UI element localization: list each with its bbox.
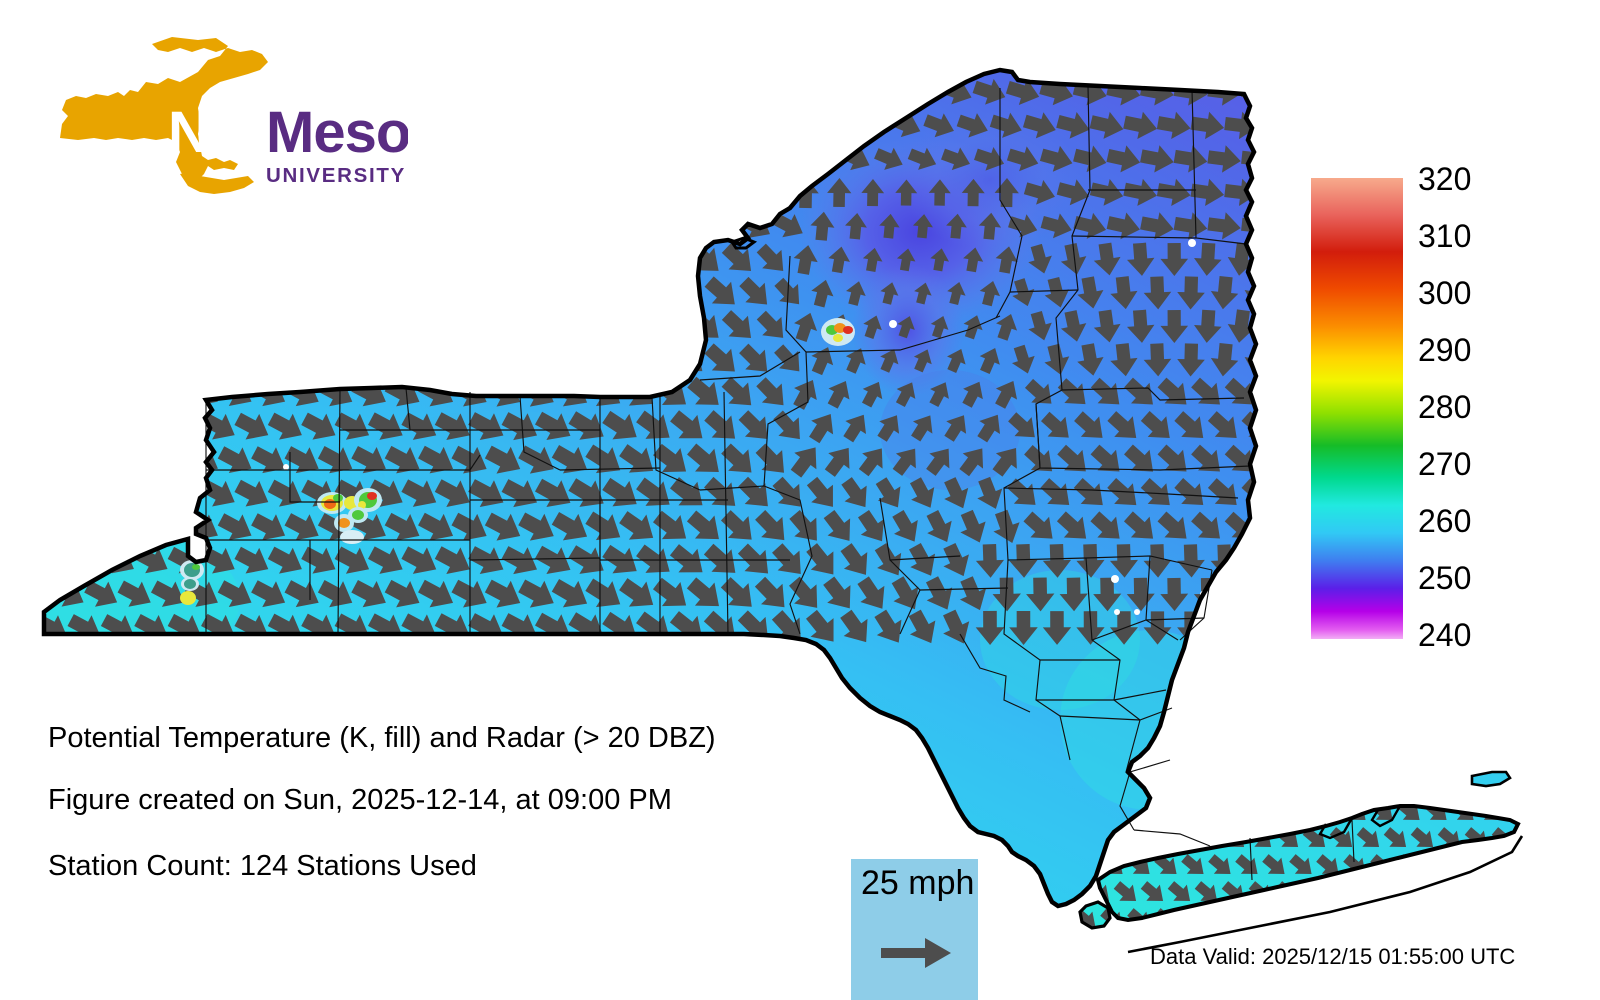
wind-barb [131,406,174,447]
wind-barb [198,204,242,249]
wind-barb [1475,850,1508,882]
wind-barb-field-long-island [1070,796,1535,936]
wind-barb [648,237,695,283]
wind-barb [64,273,107,314]
wind-barb [281,305,326,347]
wind-barb [264,203,309,249]
wind-barb [869,73,909,111]
wind-barb [147,239,191,280]
wind-barb [47,239,90,280]
wind-barb [381,305,426,348]
wind-barb [448,238,494,282]
wind-barb [97,474,140,515]
wind-barb [298,272,343,314]
wind-barb [464,69,511,116]
wind-barb [231,203,275,248]
wind-barb [181,239,225,281]
wind-barb [564,69,612,116]
wind-barb [564,136,612,183]
wind-barb [531,136,579,183]
wind-barb [1151,796,1184,828]
wind-barb [314,103,359,149]
wind-barb [398,338,444,381]
wind-barb [431,338,477,381]
wind-barb [114,440,157,481]
wind-barb [331,272,376,315]
wind-barb [481,169,528,216]
colorbar-tick-240: 240 [1418,619,1471,651]
wind-barb [147,373,191,414]
wind-barb [297,69,342,115]
wind-barb [131,272,174,313]
wind-barb [481,238,527,282]
wind-barb [531,203,579,250]
data-valid-timestamp: Data Valid: 2025/12/15 01:55:00 UTC [1150,945,1515,969]
weather-map-figure: NYS Mesonet UNIVERSITY AT ALBANY [0,0,1600,1000]
wind-barb [131,137,173,181]
wind-barb [615,304,662,350]
wind-barb [314,305,359,348]
wind-barb [1421,904,1454,936]
wind-barb [1178,796,1211,828]
wind-barb [32,71,72,114]
wind-barb [98,204,140,248]
wind-barb [1448,904,1481,936]
wind-barb [164,70,207,114]
wind-barb [497,136,544,183]
wind-scale-label: 25 mph [861,866,974,900]
wind-barb [1421,850,1454,882]
wind-barb [164,204,207,248]
wind-barb [733,71,778,114]
wind-barb [231,69,275,114]
wind-barb [31,407,74,447]
wind-barb [47,373,90,414]
wind-barb [1488,877,1521,909]
wind-barb [1232,796,1265,828]
wind-barb [248,305,292,347]
wind-barb [1407,877,1440,909]
wind-barb [431,69,478,116]
wind-barb [148,170,191,214]
wind-barb [431,203,478,250]
colorbar-tick-280: 280 [1418,391,1471,423]
wind-barb [531,271,578,316]
wind-barb [297,203,342,249]
wind-barb [231,136,275,181]
wind-barb [615,103,662,149]
wind-barb [214,239,258,281]
figure-title: Potential Temperature (K, fill) and Rada… [48,723,716,753]
wind-barb [514,237,561,281]
wind-barb [164,137,207,181]
station-count-label: Station Count: 124 Stations Used [48,851,477,881]
wind-barb [64,340,107,381]
wind-barb [768,139,810,179]
wind-barb [115,171,157,215]
wind-barb [397,69,443,115]
wind-barb [548,304,595,349]
wind-barb [114,373,157,414]
wind-barb [281,103,326,149]
colorbar-tick-290: 290 [1418,334,1471,366]
wind-barb [381,102,427,148]
wind-barb [97,340,140,381]
wind-barb [514,169,562,216]
wind-barb [364,203,410,249]
wind-barb [281,170,326,216]
wind-barb [581,304,628,350]
wind-barb [632,270,679,316]
wind-barb [114,306,157,347]
wind-barb [431,271,477,314]
wind-barb [699,137,744,180]
wind-barb [514,304,561,348]
wind-barb [414,305,460,348]
wind-barb [381,169,427,215]
wind-barb [447,102,494,149]
wind-barb [564,203,612,250]
wind-barb-field [31,69,1280,652]
wind-barb [97,273,140,314]
wind-barb [598,337,645,383]
wind-barb [1244,612,1272,645]
wind-barb [214,103,258,148]
wind-barb [1502,904,1535,936]
wind-barb [231,339,275,381]
wind-barb [598,270,645,316]
wind-barb [314,170,359,216]
wind-barb [64,474,107,515]
wind-barb [348,305,393,348]
wind-barb [598,69,646,115]
wind-barb [481,305,527,349]
colorbar [1311,178,1403,639]
wind-barb [164,272,208,313]
wind-barb [147,306,191,347]
wind-barb [131,339,174,380]
wind-barb [264,69,309,115]
wind-barb [197,272,241,314]
wind-barb [364,69,410,115]
wind-barb [448,305,494,349]
wind-barb [767,71,811,113]
wind-barb [564,270,611,315]
wind-barb [198,70,242,115]
wind-barb [331,69,377,115]
wind-barb [819,106,860,144]
wind-barb [65,70,106,113]
wind-barb [835,73,876,112]
wind-barb [498,271,544,315]
wind-barb [181,306,225,348]
wind-barb [547,169,595,216]
wind-barb [1211,612,1239,645]
wind-barb [47,440,90,481]
wind-barb [348,238,393,281]
wind-barb [547,102,595,149]
wind-barb [615,170,662,216]
wind-barb [1475,904,1508,936]
wind-barb [631,69,678,115]
wind-barb [114,507,157,548]
wind-barb [631,337,678,383]
wind-barb [164,406,208,447]
wind-barb [581,102,629,148]
wind-barb [414,169,461,216]
wind-barb [665,204,711,248]
wind-barb [648,304,695,350]
wind-barb [181,103,224,148]
wind-barb [431,136,478,183]
wind-barb [31,541,74,581]
wind-barb [1244,544,1273,578]
wind-barb [48,171,89,214]
wind-barb [82,104,123,147]
wind-barb [514,102,562,149]
wind-barb [1227,578,1255,611]
wind-barb [497,69,544,116]
wind-barb [81,440,124,481]
wind-barb [785,106,827,146]
colorbar-tick-250: 250 [1418,562,1471,594]
wind-barb [47,306,90,347]
wind-barb [98,70,140,114]
wind-barb [665,70,712,115]
wind-barb [281,238,326,280]
colorbar-tick-260: 260 [1418,505,1471,537]
figure-created-timestamp: Figure created on Sun, 2025-12-14, at 09… [48,785,672,815]
wind-barb [81,373,124,414]
wind-barb [164,339,208,380]
wind-barb [1461,877,1494,909]
wind-barb [331,136,377,182]
wind-barb [297,136,342,182]
wind-barb [198,137,242,182]
wind-barb [1259,796,1292,828]
wind-barb [751,172,793,212]
wind-barb [248,103,292,148]
wind-barb [31,474,74,514]
wind-barb [682,171,728,215]
wind-barb [248,238,292,280]
wind-barb [231,272,275,314]
wind-barb [734,138,778,180]
wind-barb [115,104,157,148]
wind-barb [114,239,157,280]
wind-barb [1367,904,1400,936]
wind-barb [1286,796,1319,828]
wind-barb [631,136,678,181]
wind-barb [214,306,258,348]
wind-barb [481,102,528,149]
wind-barb [65,137,106,180]
colorbar-gradient [1311,178,1403,639]
wind-barb [397,136,443,182]
wind-barb [398,271,444,314]
wind-barb [648,170,695,215]
wind-barb [298,339,343,381]
wind-barb [598,203,645,249]
wind-barb [598,136,646,182]
wind-barb [1394,904,1427,936]
wind-barb [48,104,89,147]
wind-barb [264,136,309,182]
wind-scale-legend: 25 mph [851,859,978,1000]
wind-barb [381,238,426,281]
wind-barb [665,137,711,182]
wind-barb [131,204,173,248]
wind-barb [65,204,106,247]
wind-barb [331,339,376,382]
wind-barb [464,271,510,315]
wind-barb [414,102,461,149]
wind-barb [214,170,258,215]
wind-barb [548,237,595,282]
wind-barb [364,339,409,382]
wind-barb [750,105,794,147]
wind-barb [264,339,309,381]
wind-barb [364,136,410,182]
wind-barb [1326,877,1359,909]
wind-barb [414,238,460,281]
wind-barb [81,306,124,347]
wind-barb [716,104,761,147]
wind-barb [148,103,191,147]
colorbar-tick-320: 320 [1418,163,1471,195]
colorbar-tick-270: 270 [1418,448,1471,480]
wind-barb [197,339,241,381]
wind-barb [264,272,309,314]
wind-barb [531,338,578,383]
wind-barb [717,171,761,213]
wind-barb [81,507,124,548]
colorbar-tick-310: 310 [1418,220,1471,252]
wind-barb [447,169,494,216]
wind-barb [364,272,409,315]
wind-barb [632,203,679,248]
wind-barb [47,507,90,548]
wind-barb [801,72,844,112]
wind-barb [131,70,173,114]
wind-barb [682,103,728,147]
wind-barb [97,407,140,448]
wind-barb [181,170,224,215]
colorbar-tick-300: 300 [1418,277,1471,309]
wind-barb [331,203,377,249]
wind-barb [464,338,510,382]
wind-barb [131,473,174,514]
wind-barb [615,237,662,283]
wind-barb [464,203,511,250]
wind-barb [347,169,393,215]
wind-barb [699,70,745,114]
wind-barb [464,136,511,183]
wind-barb [32,205,72,248]
wind-barb [81,239,124,280]
wind-barb [32,138,72,181]
wind-barb [581,237,628,283]
wind-barb [498,338,544,382]
wind-barb [314,238,359,281]
wind-barb [1137,823,1170,855]
wind-barb [581,169,629,215]
wind-barb [397,203,443,249]
wind-barb [564,337,611,382]
wind-barb [147,440,191,481]
wind-barb [648,103,695,148]
wind-barb [347,102,393,148]
wind-barb [64,407,107,448]
wind-barb [31,273,74,313]
wind-barb [497,203,544,250]
wind-barb [248,170,292,215]
wind-barb [31,340,74,380]
wind-barb [98,137,140,181]
wind-barb [1205,796,1238,828]
arrow-right-icon [881,936,953,970]
wind-barb [82,171,123,214]
wind-barb [531,69,579,116]
radar-echo-cluster-adirondack [821,318,855,346]
